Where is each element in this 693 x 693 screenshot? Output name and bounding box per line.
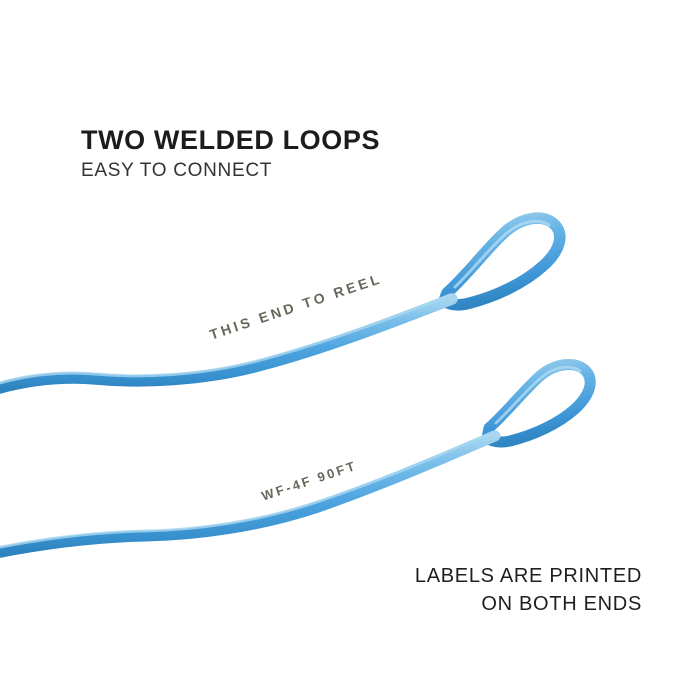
- headline-block: TWO WELDED LOOPS EASY TO CONNECT: [81, 126, 380, 182]
- caption-block: LABELS ARE PRINTED ON BOTH ENDS: [415, 562, 642, 619]
- lower-welded-loop: [487, 364, 590, 442]
- headline-title: TWO WELDED LOOPS: [81, 126, 380, 154]
- caption-line-2: ON BOTH ENDS: [415, 590, 642, 618]
- upper-welded-loop: [444, 218, 560, 305]
- caption-line-1: LABELS ARE PRINTED: [415, 562, 642, 590]
- headline-subtitle: EASY TO CONNECT: [81, 161, 380, 182]
- upper-line-strand: [0, 299, 452, 389]
- lower-line-assembly: [0, 364, 590, 553]
- product-image-canvas: THIS END TO REEL WF-4F 90FT TWO WELDED L…: [0, 0, 693, 693]
